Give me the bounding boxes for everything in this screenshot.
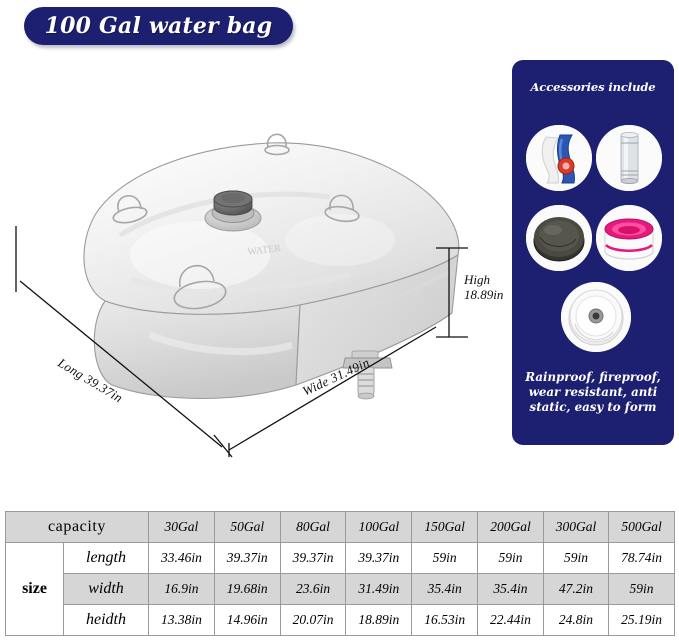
height-value-6: 24.8in bbox=[543, 605, 608, 636]
black-cap-icon bbox=[526, 205, 592, 271]
capacity-col-2: 80Gal bbox=[280, 512, 346, 543]
product-illustration: WATER bbox=[0, 55, 500, 495]
height-value-5: 22.44in bbox=[478, 605, 544, 636]
white-disc-icon bbox=[561, 282, 631, 352]
dimension-label-high: High 18.89in bbox=[464, 273, 512, 303]
pink-funnel-icon bbox=[596, 205, 662, 271]
width-value-3: 31.49in bbox=[346, 574, 412, 605]
capacity-col-7: 500Gal bbox=[609, 512, 675, 543]
page-title: 100 Gal water bag bbox=[45, 13, 273, 39]
table-row-height: heidth 13.38in 14.96in 20.07in 18.89in 1… bbox=[6, 605, 675, 636]
accessory-pink-funnel bbox=[596, 205, 662, 271]
capacity-col-1: 50Gal bbox=[214, 512, 280, 543]
length-value-1: 39.37in bbox=[214, 543, 280, 574]
width-value-7: 59in bbox=[609, 574, 675, 605]
length-value-3: 39.37in bbox=[346, 543, 412, 574]
capacity-col-0: 30Gal bbox=[149, 512, 215, 543]
capacity-col-3: 100Gal bbox=[346, 512, 412, 543]
accessory-white-disc bbox=[561, 282, 631, 352]
width-value-1: 19.68in bbox=[214, 574, 280, 605]
width-value-5: 35.4in bbox=[478, 574, 544, 605]
height-value-3: 18.89in bbox=[346, 605, 412, 636]
length-value-2: 39.37in bbox=[280, 543, 346, 574]
product-title-badge: 100 Gal water bag bbox=[24, 7, 293, 45]
length-value-6: 59in bbox=[543, 543, 608, 574]
width-value-2: 23.6in bbox=[280, 574, 346, 605]
row-label-height: heidth bbox=[64, 605, 149, 636]
height-value-1: 14.96in bbox=[214, 605, 280, 636]
length-value-0: 33.46in bbox=[149, 543, 215, 574]
accessories-heading: Accessories include bbox=[512, 80, 674, 94]
bag-body bbox=[84, 143, 459, 399]
capacity-header: capacity bbox=[6, 512, 149, 543]
height-value-4: 16.53in bbox=[412, 605, 478, 636]
width-value-4: 35.4in bbox=[412, 574, 478, 605]
table-row-length: size length 33.46in 39.37in 39.37in 39.3… bbox=[6, 543, 675, 574]
height-value-0: 13.38in bbox=[149, 605, 215, 636]
specification-table: capacity 30Gal 50Gal 80Gal 100Gal 150Gal… bbox=[5, 511, 675, 636]
ball-valve-icon bbox=[526, 125, 592, 191]
capacity-col-6: 300Gal bbox=[543, 512, 608, 543]
capacity-col-5: 200Gal bbox=[478, 512, 544, 543]
height-value-2: 20.07in bbox=[280, 605, 346, 636]
accessory-black-cap bbox=[526, 205, 592, 271]
length-value-4: 59in bbox=[412, 543, 478, 574]
table-row-width: width 16.9in 19.68in 23.6in 31.49in 35.4… bbox=[6, 574, 675, 605]
length-value-5: 59in bbox=[478, 543, 544, 574]
width-value-0: 16.9in bbox=[149, 574, 215, 605]
water-bag-drawing: WATER bbox=[0, 55, 500, 495]
capacity-col-4: 150Gal bbox=[412, 512, 478, 543]
height-value-7: 25.19in bbox=[609, 605, 675, 636]
accessories-panel: Accessories include bbox=[512, 60, 674, 445]
clear-tube-icon bbox=[596, 125, 662, 191]
row-label-length: length bbox=[64, 543, 149, 574]
width-value-6: 47.2in bbox=[543, 574, 608, 605]
accessory-ball-valve bbox=[526, 125, 592, 191]
table-header-row: capacity 30Gal 50Gal 80Gal 100Gal 150Gal… bbox=[6, 512, 675, 543]
size-label: size bbox=[6, 543, 64, 636]
accessories-tagline: Rainproof, fireproof, wear resistant, an… bbox=[518, 370, 668, 415]
row-label-width: width bbox=[64, 574, 149, 605]
accessory-clear-tube bbox=[596, 125, 662, 191]
length-value-7: 78.74in bbox=[609, 543, 675, 574]
